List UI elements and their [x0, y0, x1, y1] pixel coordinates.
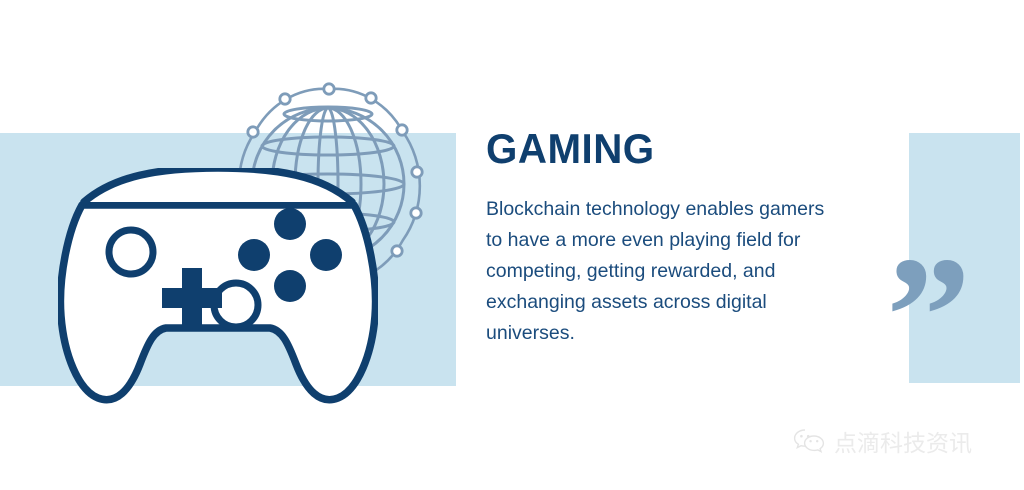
- page-title: GAMING: [486, 126, 832, 172]
- watermark: 点滴科技资讯: [793, 428, 972, 460]
- game-controller-icon: [58, 168, 378, 413]
- infographic-panel: ” GAMING Blockchain technology enables g…: [0, 0, 1024, 490]
- body-paragraph: Blockchain technology enables gamers to …: [486, 172, 831, 349]
- wechat-icon: [793, 428, 825, 460]
- quote-mark-icon: ”: [886, 256, 1006, 376]
- watermark-label: 点滴科技资讯: [834, 430, 972, 458]
- text-column: GAMING Blockchain technology enables gam…: [486, 126, 846, 349]
